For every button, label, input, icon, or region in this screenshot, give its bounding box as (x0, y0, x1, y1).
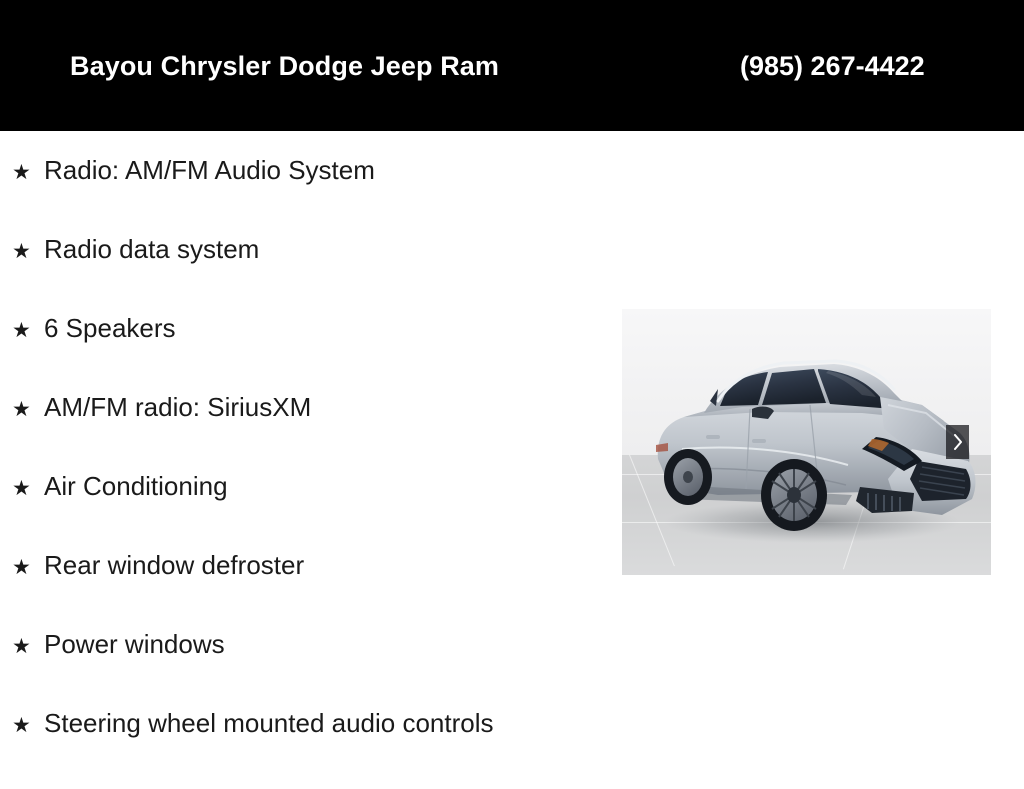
feature-label: Radio: AM/FM Audio System (44, 157, 620, 183)
dealer-phone-number[interactable]: (985) 267-4422 (740, 50, 925, 82)
list-item: ★ Power windows (0, 631, 620, 710)
star-icon: ★ (12, 634, 44, 660)
list-item: ★ Air Conditioning (0, 473, 620, 552)
star-icon: ★ (12, 555, 44, 581)
feature-label: Power windows (44, 631, 620, 657)
star-icon: ★ (12, 239, 44, 265)
star-icon: ★ (12, 397, 44, 423)
star-icon: ★ (12, 318, 44, 344)
star-icon: ★ (12, 713, 44, 739)
list-item: ★ 6 Speakers (0, 315, 620, 394)
feature-label: Steering wheel mounted audio controls (44, 710, 620, 736)
car-illustration (622, 309, 991, 575)
list-item: ★ AM/FM radio: SiriusXM (0, 394, 620, 473)
star-icon: ★ (12, 160, 44, 186)
next-image-arrow-icon[interactable] (946, 425, 969, 459)
list-item: ★ Radio: AM/FM Audio System (0, 131, 620, 236)
list-item: ★ Rear window defroster (0, 552, 620, 631)
list-item: ★ Steering wheel mounted audio controls (0, 710, 620, 789)
dealer-header-bar: Bayou Chrysler Dodge Jeep Ram (985) 267-… (0, 0, 1024, 131)
feature-label: Air Conditioning (44, 473, 620, 499)
feature-label: Rear window defroster (44, 552, 620, 578)
vehicle-photo[interactable] (622, 309, 991, 575)
feature-label: 6 Speakers (44, 315, 620, 341)
list-item: ★ Radio data system (0, 236, 620, 315)
feature-label: AM/FM radio: SiriusXM (44, 394, 620, 420)
vehicle-features-list: ★ Radio: AM/FM Audio System ★ Radio data… (0, 131, 620, 789)
feature-label: Radio data system (44, 236, 620, 262)
star-icon: ★ (12, 476, 44, 502)
dealer-name: Bayou Chrysler Dodge Jeep Ram (70, 50, 499, 82)
header-content: Bayou Chrysler Dodge Jeep Ram (985) 267-… (0, 0, 1024, 131)
